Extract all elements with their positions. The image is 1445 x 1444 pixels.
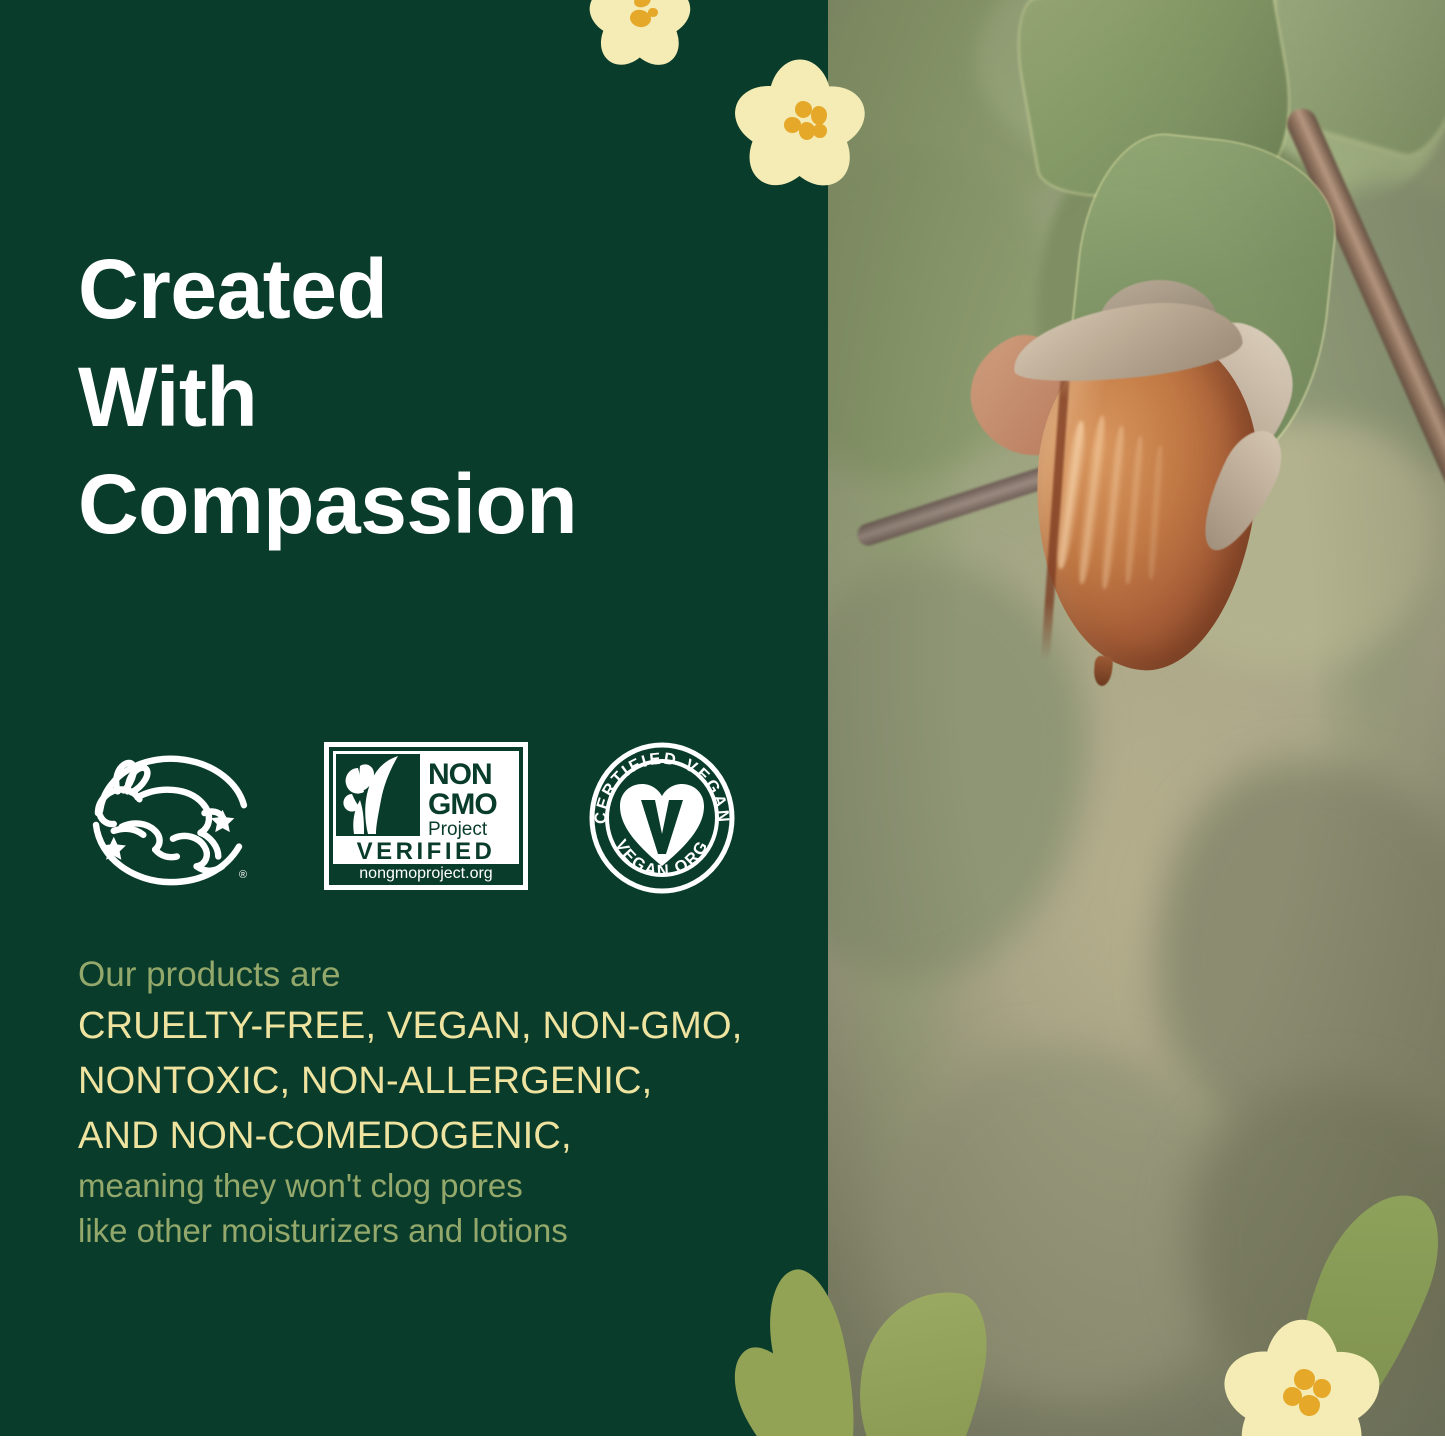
flower-top-right <box>733 58 867 192</box>
page-title: Created With Compassion <box>78 236 778 559</box>
non-gmo-line-1: NON <box>428 758 492 791</box>
headline-line-1: Created <box>78 236 778 344</box>
photo-vignette <box>826 0 1445 1436</box>
body-claim-2: NONTOXIC, NON-ALLERGENIC, <box>78 1054 798 1109</box>
flower-center <box>1222 1318 1382 1444</box>
stamen-dot <box>813 124 826 139</box>
non-gmo-url: nongmoproject.org <box>359 865 492 882</box>
certified-vegan-icon: CERTIFIED VEGAN VEGAN.ORG <box>586 742 738 894</box>
certified-vegan-badge: CERTIFIED VEGAN VEGAN.ORG <box>586 742 738 894</box>
headline-line-3: Compassion <box>78 451 778 559</box>
body-outro-1: meaning they won't clog pores <box>78 1164 798 1209</box>
flower-center <box>733 58 867 192</box>
leaping-bunny-stars <box>102 810 235 860</box>
flower-center <box>588 0 692 70</box>
non-gmo-verified: VERIFIED <box>357 838 496 865</box>
registered-mark: ® <box>239 869 247 881</box>
flower-bottom-right <box>1222 1318 1382 1444</box>
non-gmo-project-verified-icon: NON GMO Project VERIFIED nongmoproject.o… <box>324 742 528 890</box>
jojoba-photo <box>826 0 1445 1436</box>
bottom-white-strip <box>0 1436 1445 1444</box>
body-outro-2: like other moisturizers and lotions <box>78 1209 798 1254</box>
headline-line-2: With <box>78 344 778 452</box>
stamen-dot <box>811 106 827 125</box>
flower-top-left <box>588 0 692 70</box>
leaping-bunny-badge: ® <box>78 748 256 890</box>
certification-badges: ® <box>78 742 778 892</box>
stamen-dot <box>799 122 815 139</box>
stamen-dot <box>1299 1395 1320 1416</box>
stamen-dot <box>1294 1369 1315 1390</box>
body-claim-3: AND NON-COMEDOGENIC, <box>78 1109 798 1164</box>
body-intro: Our products are <box>78 952 798 999</box>
stamen-dot <box>648 8 657 17</box>
body-copy: Our products are CRUELTY-FREE, VEGAN, NO… <box>78 952 798 1254</box>
non-gmo-line-3: Project <box>428 819 488 840</box>
leaping-bunny-icon: ® <box>78 748 256 890</box>
body-claim-1: CRUELTY-FREE, VEGAN, NON-GMO, <box>78 999 798 1054</box>
non-gmo-badge: NON GMO Project VERIFIED nongmoproject.o… <box>324 742 528 890</box>
non-gmo-line-2: GMO <box>428 788 497 821</box>
stamen-dot <box>795 101 812 118</box>
promo-banner: Created With Compassion <box>0 0 1445 1444</box>
stamen-dot <box>1313 1379 1331 1398</box>
